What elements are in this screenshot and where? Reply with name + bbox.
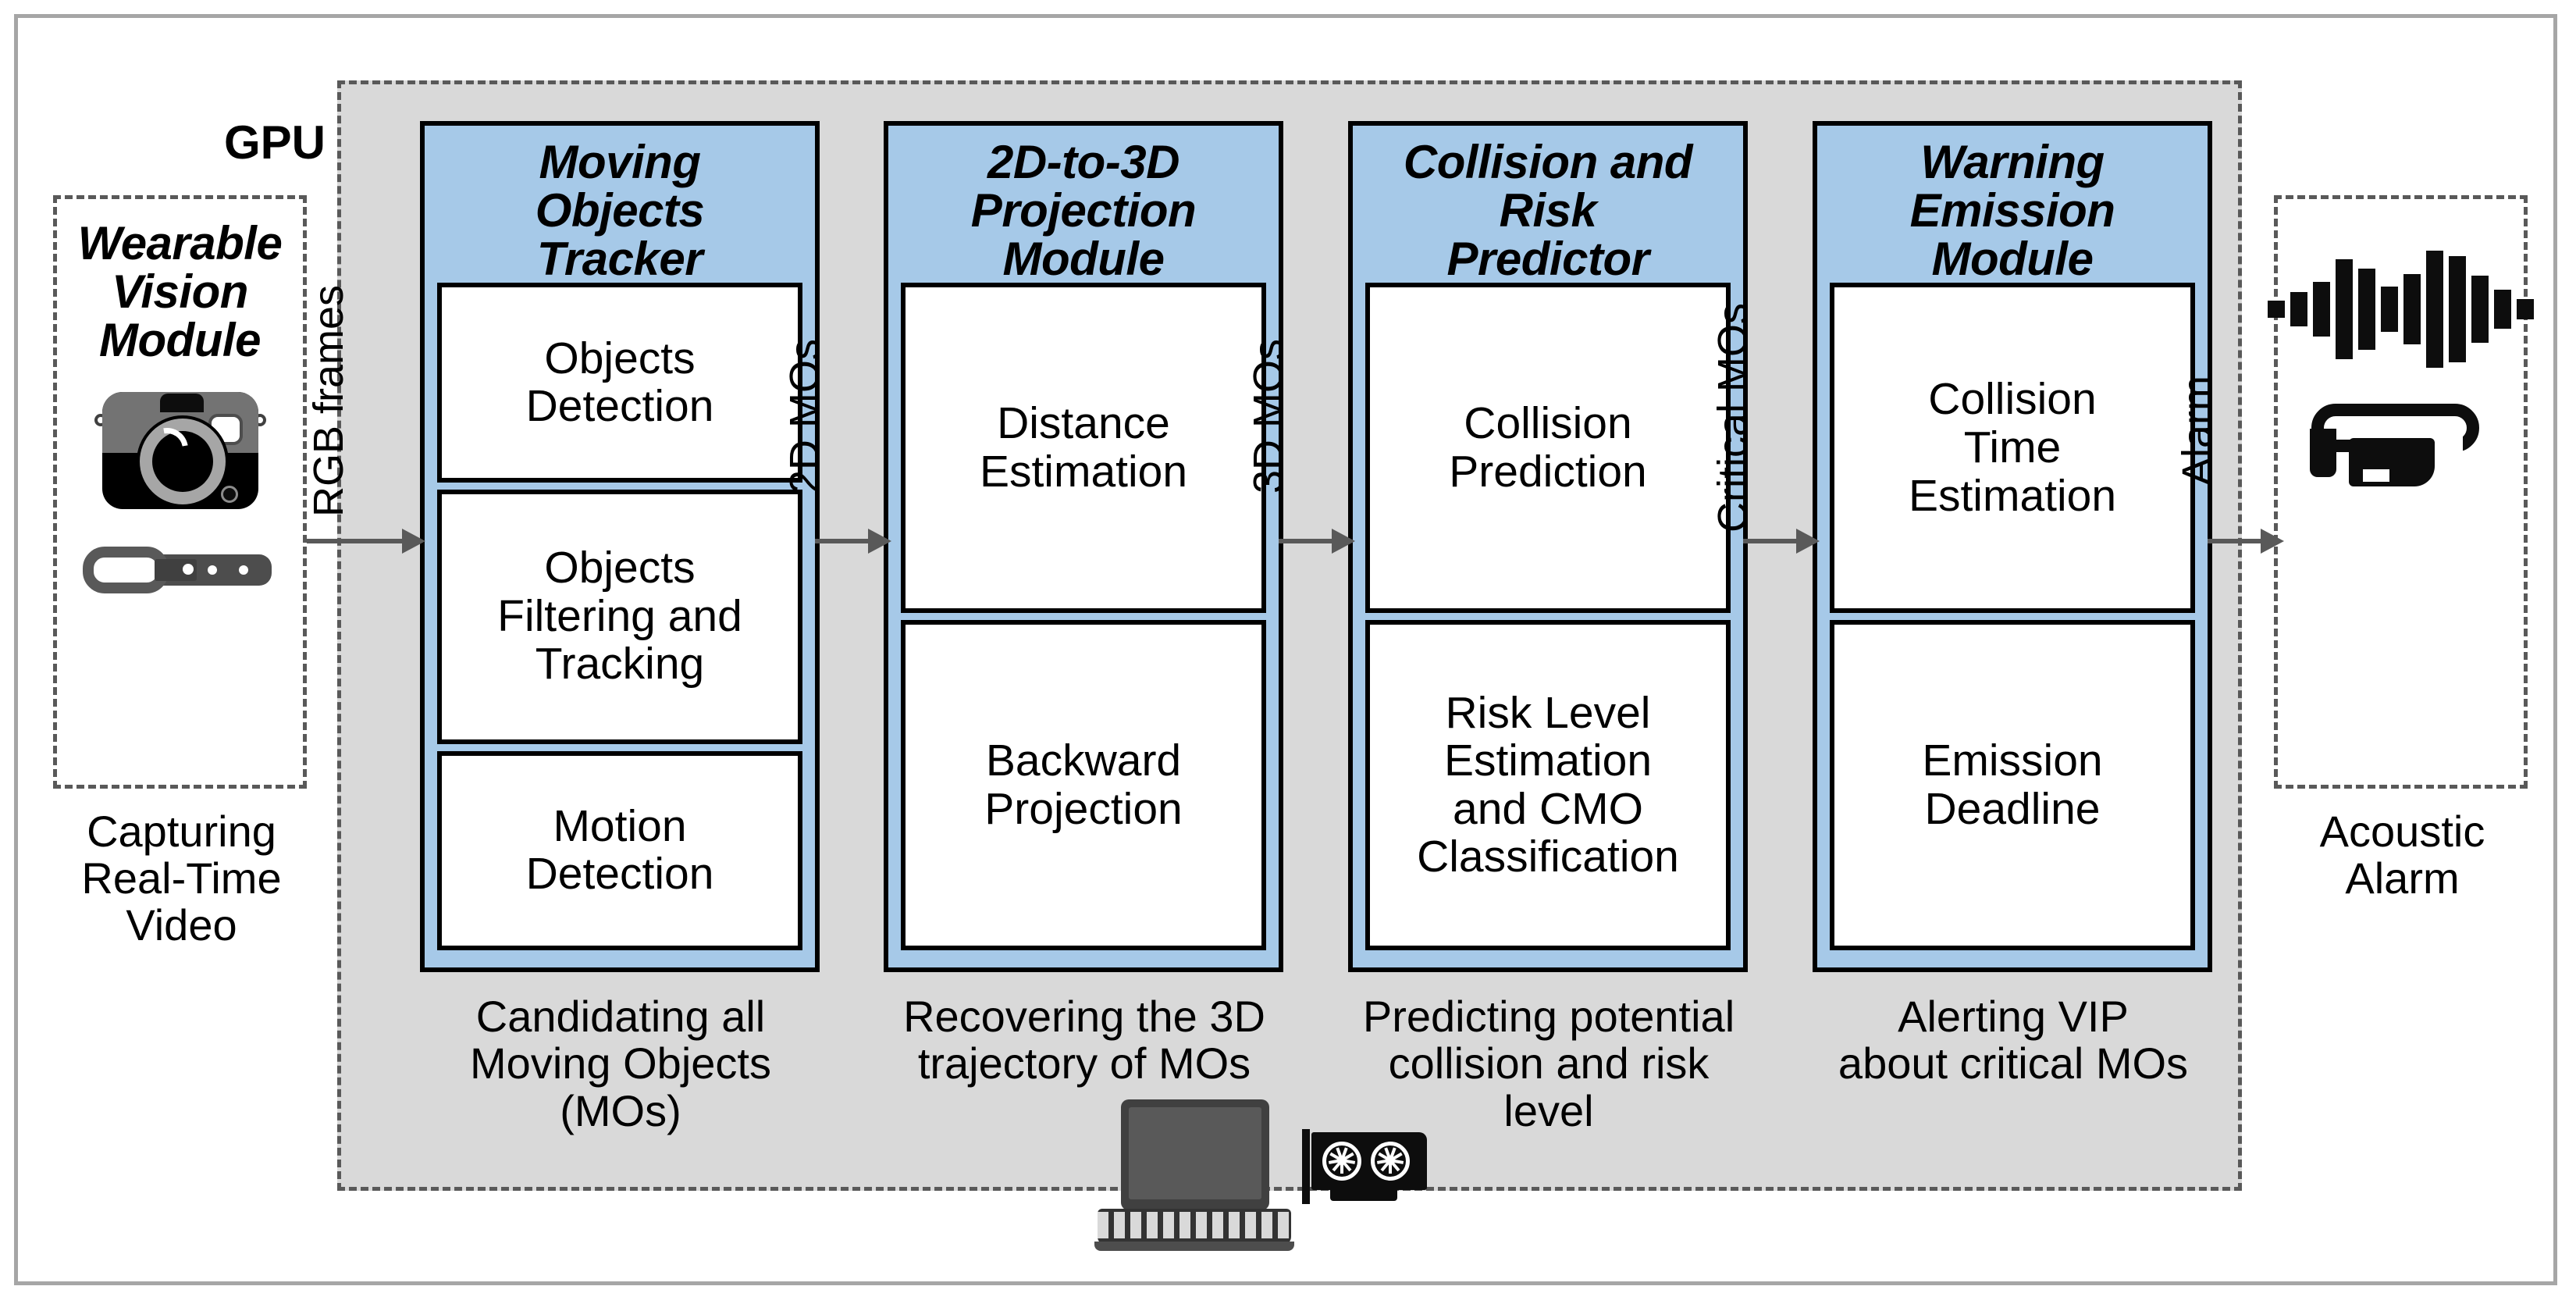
connector-label-critical-mos: Critical MOs	[1709, 303, 1757, 533]
waveform-bar	[2381, 287, 2398, 332]
submodule-objects-filtering-and-tracking[interactable]: Objects Filtering and Tracking	[437, 490, 802, 744]
arrow-3d-mos	[1279, 539, 1350, 543]
module-caption-2: Recovering the 3D trajectory of MOs	[854, 993, 1315, 1088]
module-title: 2D-to-3D Projection Module	[966, 138, 1201, 283]
acoustic-alarm-caption: Acoustic Alarm	[2252, 808, 2553, 902]
waveform-bar	[2426, 251, 2443, 368]
arrow-rgb-frames	[307, 539, 421, 543]
module-moving-objects-tracker[interactable]: Moving Objects Tracker Objects Detection…	[420, 121, 820, 972]
arrow-2d-mos	[815, 539, 887, 543]
laptop-icon	[1093, 1099, 1296, 1256]
gpu-card-icon	[1302, 1129, 1427, 1213]
wearable-vision-module-title: Wearable Vision Module	[78, 219, 283, 364]
submodule-collision-time-estimation[interactable]: Collision Time Estimation	[1830, 283, 2195, 613]
submodule-motion-detection[interactable]: Motion Detection	[437, 751, 802, 950]
submodule-objects-detection[interactable]: Objects Detection	[437, 283, 802, 482]
sound-waveform-icon	[2268, 235, 2534, 383]
module-title: Warning Emission Module	[1905, 138, 2120, 283]
module-title: Moving Objects Tracker	[531, 138, 710, 283]
waveform-bar	[2403, 274, 2421, 344]
submodule-distance-estimation[interactable]: Distance Estimation	[901, 283, 1266, 613]
waveform-bar	[2471, 276, 2489, 343]
waveform-bar	[2494, 290, 2511, 329]
belt-icon	[83, 536, 278, 606]
waveform-bar	[2517, 299, 2534, 319]
arrow-alarm	[2208, 539, 2279, 543]
submodule-risk-level-estimation-cmo-classification[interactable]: Risk Level Estimation and CMO Classifica…	[1365, 620, 1731, 950]
submodule-collision-prediction[interactable]: Collision Prediction	[1365, 283, 1731, 613]
waveform-bar	[2268, 301, 2285, 318]
arrow-critical-mos	[1743, 539, 1815, 543]
waveform-bar	[2313, 282, 2330, 337]
module-caption-4: Alerting VIP about critical MOs	[1783, 993, 2243, 1088]
gpu-label: GPU	[205, 116, 345, 169]
connector-label-3d-mos: 3D MOs	[1244, 339, 1293, 493]
acoustic-alarm-panel[interactable]	[2274, 195, 2528, 789]
waveform-bar	[2336, 259, 2353, 359]
module-collision-and-risk-predictor[interactable]: Collision and Risk Predictor Collision P…	[1348, 121, 1748, 972]
module-2d-to-3d-projection[interactable]: 2D-to-3D Projection Module Distance Esti…	[884, 121, 1283, 972]
camera-icon	[94, 378, 266, 511]
waveform-bar	[2449, 256, 2466, 362]
module-title: Collision and Risk Predictor	[1399, 138, 1697, 283]
wearable-vision-module-caption: Capturing Real-Time Video	[31, 808, 332, 949]
waveform-bar	[2290, 292, 2307, 326]
connector-label-rgb-frames: RGB frames	[304, 285, 353, 517]
submodule-emission-deadline[interactable]: Emission Deadline	[1830, 620, 2195, 950]
connector-label-2d-mos: 2D MOs	[781, 339, 829, 493]
module-warning-emission[interactable]: Warning Emission Module Collision Time E…	[1813, 121, 2212, 972]
diagram-root: Wearable Vision Module Capturing Real-Ti…	[0, 0, 2576, 1304]
waveform-bar	[2358, 269, 2375, 350]
module-caption-1: Candidating all Moving Objects (MOs)	[390, 993, 851, 1135]
hardware-group	[1093, 1099, 1499, 1271]
earpiece-icon	[2304, 397, 2499, 515]
submodule-backward-projection[interactable]: Backward Projection	[901, 620, 1266, 950]
connector-label-alarm: Alarm	[2173, 376, 2222, 486]
wearable-vision-module-panel[interactable]: Wearable Vision Module	[53, 195, 307, 789]
